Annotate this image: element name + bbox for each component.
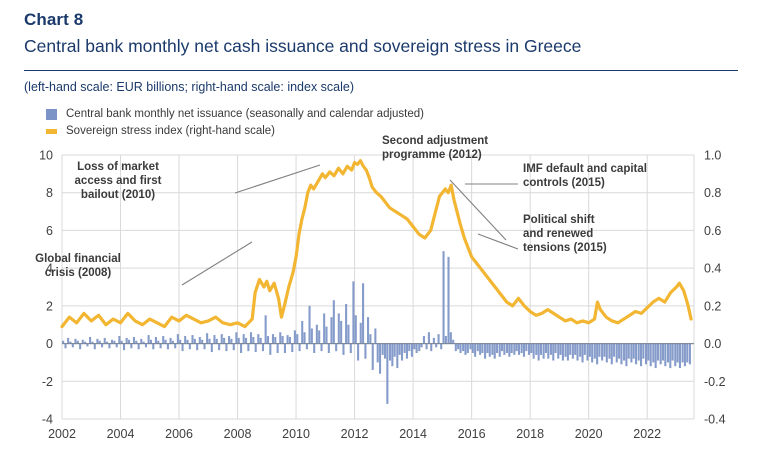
bar: [108, 344, 110, 349]
bar: [533, 344, 535, 359]
bar: [289, 337, 291, 344]
bar: [342, 344, 344, 355]
bar: [579, 344, 581, 357]
bar: [369, 334, 371, 343]
y-axis-right-tick-label: 1.0: [704, 149, 721, 163]
bar: [416, 344, 418, 353]
bar: [194, 339, 196, 344]
bar: [374, 328, 376, 343]
x-axis-tick-label: 2004: [107, 427, 135, 441]
y-axis-right-tick-label: 0.0: [704, 337, 721, 351]
bar: [606, 344, 608, 363]
bar: [223, 338, 225, 344]
bar: [155, 337, 157, 344]
annotation-line: crisis (2008): [45, 267, 112, 279]
bar: [79, 344, 81, 350]
annotation-line: Loss of market: [77, 161, 159, 173]
bar: [445, 336, 447, 344]
bar: [274, 337, 276, 344]
bar: [608, 344, 610, 359]
annotation-line: tensions (2015): [523, 242, 607, 254]
y-axis-left-tick-label: 0: [46, 337, 53, 351]
annotation-line: bailout (2010): [81, 189, 155, 201]
bar: [640, 344, 642, 367]
bar: [386, 344, 388, 404]
bar: [581, 344, 583, 363]
y-axis-right: -0.4-0.20.00.20.40.60.81.0: [704, 149, 726, 427]
bar: [296, 334, 298, 343]
bar: [657, 344, 659, 361]
bar: [499, 344, 501, 357]
bar: [662, 344, 664, 361]
annotation-leader-line: [235, 165, 320, 193]
bar: [647, 344, 649, 361]
bar: [491, 344, 493, 355]
bar: [206, 333, 208, 343]
bar: [186, 340, 188, 344]
bar: [474, 344, 476, 357]
bar: [389, 344, 391, 361]
bar: [464, 344, 466, 355]
bar: [152, 344, 154, 350]
bar: [443, 251, 445, 343]
annotation-line: Second adjustment: [382, 135, 488, 147]
bar: [140, 339, 142, 344]
annotation-leader-line: [478, 234, 518, 249]
bar: [333, 300, 335, 343]
bar: [216, 339, 218, 344]
bar: [362, 283, 364, 343]
bar: [350, 344, 352, 353]
bar: [299, 344, 301, 352]
y-axis-left: -4-20246810: [39, 149, 53, 427]
y-axis-right-tick-label: -0.2: [704, 375, 726, 389]
bar: [664, 344, 666, 367]
bar: [243, 334, 245, 343]
bar: [170, 338, 172, 344]
bar: [555, 344, 557, 353]
bar: [421, 344, 423, 348]
bar: [338, 313, 340, 343]
bar: [160, 344, 162, 349]
bar: [335, 344, 337, 352]
bar: [240, 344, 242, 353]
bar: [594, 344, 596, 359]
x-axis-tick-label: 2016: [458, 427, 486, 441]
bar: [328, 344, 330, 353]
bar: [74, 339, 76, 344]
bar: [513, 344, 515, 355]
bar: [613, 344, 615, 357]
bar: [250, 332, 252, 343]
bar: [221, 334, 223, 343]
bar: [279, 332, 281, 343]
bar: [340, 321, 342, 344]
bar: [301, 321, 303, 344]
bar: [603, 344, 605, 357]
bar: [511, 344, 513, 353]
bar: [528, 344, 530, 355]
bar: [645, 344, 647, 365]
bar: [433, 338, 435, 344]
bar: [545, 344, 547, 353]
bar: [230, 339, 232, 344]
bar: [669, 344, 671, 369]
bar: [589, 344, 591, 357]
bar: [284, 344, 286, 353]
bar: [372, 344, 374, 370]
bar: [260, 338, 262, 344]
bar: [428, 332, 430, 343]
bar: [116, 344, 118, 348]
bar: [586, 344, 588, 361]
annotation-second-adjustment-programme: Second adjustmentprogramme (2012): [382, 135, 488, 161]
bar: [628, 344, 630, 359]
bar: [218, 344, 220, 351]
bar: [435, 344, 437, 348]
bar: [320, 344, 322, 352]
bar: [408, 344, 410, 352]
bar: [611, 344, 613, 365]
bar: [418, 344, 420, 352]
bar: [257, 334, 259, 343]
plot-area: -4-20246810-0.4-0.20.00.20.40.60.81.0200…: [0, 0, 762, 458]
bar: [101, 344, 103, 348]
bar: [123, 344, 125, 351]
y-axis-right-tick-label: -0.4: [704, 413, 726, 427]
x-axis-tick-label: 2002: [48, 427, 76, 441]
bar: [311, 328, 313, 343]
bar: [262, 344, 264, 352]
y-axis-left-tick-label: 2: [46, 299, 53, 313]
bar: [547, 344, 549, 359]
bar: [225, 344, 227, 352]
annotation-leader-line: [182, 242, 252, 285]
bar: [133, 337, 135, 344]
bar: [552, 344, 554, 361]
bar: [72, 344, 74, 348]
bar: [506, 344, 508, 353]
bar: [203, 344, 205, 350]
bar: [126, 338, 128, 344]
bar: [377, 344, 379, 363]
x-axis-tick-label: 2022: [633, 427, 661, 441]
bar: [345, 304, 347, 344]
bar: [201, 340, 203, 344]
bar: [399, 344, 401, 355]
y-axis-right-tick-label: 0.2: [704, 299, 721, 313]
bar: [674, 344, 676, 367]
bar: [477, 344, 479, 352]
bar: [486, 344, 488, 353]
bar: [367, 317, 369, 343]
bar: [440, 344, 442, 350]
bar: [196, 344, 198, 351]
bar: [245, 338, 247, 344]
bar: [557, 344, 559, 359]
bar: [530, 344, 532, 353]
bar: [682, 344, 684, 363]
bar: [472, 344, 474, 353]
bar: [208, 339, 210, 344]
bar: [382, 344, 384, 355]
y-axis-right-tick-label: 0.8: [704, 186, 721, 200]
bar: [199, 337, 201, 344]
bar: [508, 344, 510, 357]
bar: [174, 344, 176, 349]
bar: [396, 344, 398, 369]
bar: [357, 344, 359, 361]
bar: [316, 325, 318, 344]
y-axis-left-tick-label: -2: [42, 375, 53, 389]
bar: [550, 344, 552, 355]
bar: [252, 337, 254, 344]
bar: [455, 344, 457, 352]
annotation-political-shift-renewed-tensions: Political shiftand renewedtensions (2015…: [523, 214, 607, 254]
bar: [306, 344, 308, 350]
bar: [503, 344, 505, 355]
chart-page: Chart 8 Central bank monthly net cash is…: [0, 0, 762, 458]
bar: [162, 336, 164, 344]
bar: [667, 344, 669, 363]
bar: [379, 344, 381, 374]
bar: [413, 344, 415, 350]
bar: [318, 330, 320, 343]
x-axis-tick-label: 2014: [399, 427, 427, 441]
bar: [686, 344, 688, 363]
bar: [360, 323, 362, 344]
bar: [501, 344, 503, 352]
bar: [535, 344, 537, 355]
bar: [167, 344, 169, 350]
bar: [467, 344, 469, 353]
annotation-line: Global financial: [35, 253, 121, 265]
annotations: Global financialcrisis (2008)Loss of mar…: [35, 135, 647, 285]
annotation-line: access and first: [75, 175, 162, 187]
bar: [182, 344, 184, 352]
annotation-loss-of-market-access: Loss of marketaccess and firstbailout (2…: [75, 161, 162, 201]
bar: [518, 344, 520, 355]
bar: [560, 344, 562, 355]
bar: [118, 336, 120, 344]
bar: [660, 344, 662, 365]
bar: [89, 337, 91, 344]
bar: [165, 340, 167, 344]
bar: [233, 344, 235, 351]
y-axis-right-tick-label: 0.4: [704, 262, 721, 276]
bar: [565, 344, 567, 357]
bar: [655, 344, 657, 369]
bar: [452, 340, 454, 344]
bar: [352, 281, 354, 343]
bar: [235, 332, 237, 343]
bar: [325, 327, 327, 344]
bar: [213, 335, 215, 343]
annotation-imf-default-capital-controls: IMF default and capitalcontrols (2015): [523, 163, 647, 189]
bar: [543, 344, 545, 359]
bar: [272, 334, 274, 343]
x-axis-tick-label: 2012: [341, 427, 369, 441]
bar: [525, 344, 527, 352]
bar: [601, 344, 603, 361]
bar: [574, 344, 576, 355]
bar: [562, 344, 564, 361]
bar: [355, 315, 357, 343]
bar: [384, 344, 386, 359]
bar: [430, 344, 432, 352]
bar: [308, 306, 310, 344]
bar: [577, 344, 579, 361]
bar: [82, 340, 84, 344]
bar: [618, 344, 620, 359]
bar: [130, 344, 132, 349]
bar: [211, 344, 213, 352]
bar: [255, 344, 257, 352]
bar: [481, 344, 483, 353]
bar: [364, 344, 366, 359]
bar: [469, 344, 471, 350]
bar: [672, 344, 674, 361]
bar: [394, 344, 396, 357]
bar: [391, 344, 393, 367]
bar: [426, 344, 428, 350]
bar: [567, 344, 569, 361]
y-axis-left-tick-label: 10: [39, 149, 53, 163]
bar: [457, 344, 459, 350]
y-axis-left-tick-label: 8: [46, 186, 53, 200]
bar: [620, 344, 622, 365]
bar: [489, 344, 491, 357]
x-axis-tick-label: 2018: [516, 427, 544, 441]
bar: [67, 338, 69, 344]
bar: [591, 344, 593, 363]
x-axis: 2002200420062008201020122014201620182020…: [48, 427, 661, 441]
bar: [138, 344, 140, 350]
bar: [450, 332, 452, 343]
bar: [438, 334, 440, 343]
bar: [404, 344, 406, 353]
bar: [228, 336, 230, 344]
bar: [638, 344, 640, 361]
bar: [684, 344, 686, 367]
bar: [623, 344, 625, 361]
x-axis-tick-label: 2008: [224, 427, 252, 441]
bar: [150, 340, 152, 344]
y-axis-left-tick-label: 6: [46, 224, 53, 238]
bar: [269, 344, 271, 355]
chart-svg: -4-20246810-0.4-0.20.00.20.40.60.81.0200…: [0, 0, 762, 458]
bar: [462, 344, 464, 352]
bar: [496, 344, 498, 353]
annotation-line: and renewed: [523, 228, 593, 240]
bar: [616, 344, 618, 363]
bar: [401, 344, 403, 361]
bar: [177, 334, 179, 343]
x-axis-tick-label: 2010: [282, 427, 310, 441]
annotation-line: programme (2012): [382, 149, 482, 161]
bar: [572, 344, 574, 359]
bar: [238, 338, 240, 344]
bar: [679, 344, 681, 369]
bar: [191, 335, 193, 343]
bar: [267, 336, 269, 344]
bar: [104, 338, 106, 344]
x-axis-tick-label: 2006: [165, 427, 193, 441]
bar: [635, 344, 637, 365]
bar: [650, 344, 652, 367]
bar: [291, 344, 293, 352]
bar: [569, 344, 571, 355]
annotation-line: Political shift: [523, 214, 595, 226]
bar: [265, 315, 267, 343]
bar: [145, 344, 147, 348]
bar: [184, 336, 186, 344]
bar: [521, 344, 523, 353]
bar: [479, 344, 481, 355]
bar: [411, 344, 413, 357]
bar: [347, 325, 349, 344]
bar: [323, 313, 325, 343]
y-axis-right-tick-label: 0.6: [704, 224, 721, 238]
bar: [516, 344, 518, 352]
bar: [179, 340, 181, 344]
bar: [523, 344, 525, 357]
bar: [189, 344, 191, 350]
bar: [64, 344, 66, 349]
bar: [96, 339, 98, 344]
bar: [447, 257, 449, 344]
bar: [625, 344, 627, 367]
bar: [423, 336, 425, 344]
bar: [247, 344, 249, 352]
bar: [538, 344, 540, 361]
annotation-line: controls (2015): [523, 177, 605, 189]
bar: [630, 344, 632, 363]
bar: [313, 344, 315, 353]
bar: [584, 344, 586, 355]
annotation-line: IMF default and capital: [523, 163, 647, 175]
bar: [406, 344, 408, 359]
bar: [277, 344, 279, 353]
bar: [128, 340, 130, 344]
bar: [459, 344, 461, 353]
bar: [282, 336, 284, 344]
bar: [484, 344, 486, 359]
bar: [642, 344, 644, 359]
bar: [304, 332, 306, 343]
bar: [677, 344, 679, 363]
bar: [111, 340, 113, 344]
bar: [330, 317, 332, 343]
bar: [287, 335, 289, 343]
bar: [598, 344, 600, 357]
bar: [652, 344, 654, 363]
bar: [689, 344, 691, 365]
bar: [294, 330, 296, 343]
y-axis-left-tick-label: -4: [42, 413, 53, 427]
annotation-leader-line: [450, 180, 506, 240]
bar: [94, 344, 96, 350]
bar: [540, 344, 542, 355]
bar: [633, 344, 635, 359]
bar: [494, 344, 496, 359]
x-axis-tick-label: 2020: [575, 427, 603, 441]
bar: [596, 344, 598, 365]
bar: [148, 335, 150, 343]
